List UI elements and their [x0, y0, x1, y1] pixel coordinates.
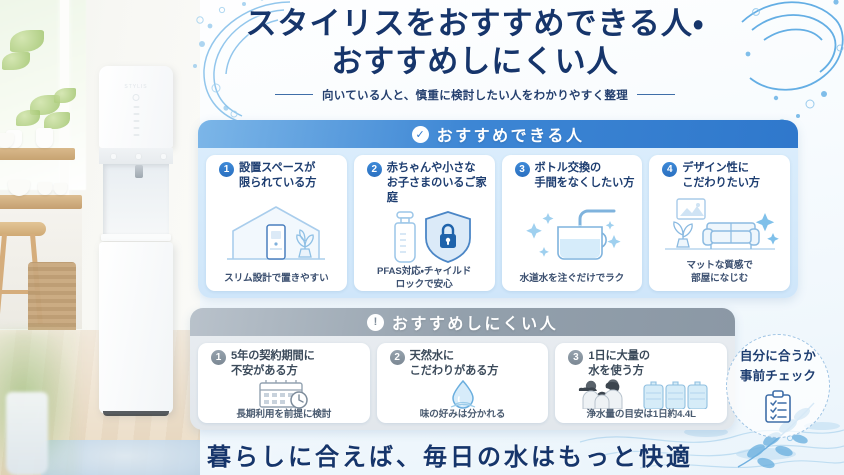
card-title-line-2: 限られている方 — [239, 177, 316, 189]
infographic-canvas: STYLIS — [0, 0, 844, 475]
card-title: 1日に大量の 水を使う方 — [588, 349, 650, 379]
card-title-line-2: こだわりたい方 — [682, 177, 760, 189]
caption-line-1: マットな質感で — [686, 260, 752, 271]
card-title-line-2: 水を使う方 — [588, 365, 643, 377]
card-art-column — [202, 379, 366, 409]
card-number: 2 — [390, 350, 405, 365]
not-recommended-card-list: 1 5年の契約期間に 不安がある方 — [190, 336, 735, 430]
title-line-2: おすすめしにくい人 — [195, 43, 755, 81]
kitchen-photo: STYLIS — [0, 0, 200, 475]
card-recommended-1[interactable]: 1 設置スペースが 限られている方 — [206, 155, 347, 291]
section-recommended-header: ✓ おすすめできる人 — [198, 120, 798, 148]
caption-line-2: ロックで安心 — [396, 279, 453, 290]
card-header: 1 5年の契約期間に 不安がある方 — [202, 349, 366, 379]
card-caption: マットな質感で 部屋になじむ — [686, 260, 752, 286]
dispense-button — [136, 154, 141, 159]
card-art-column — [381, 379, 545, 409]
card-title: デザイン性に こだわりたい方 — [682, 161, 760, 191]
water-drop-icon — [439, 379, 487, 409]
indicator-dot — [133, 120, 139, 122]
card-number: 4 — [662, 162, 677, 177]
card-body — [202, 379, 366, 409]
pre-check-line-1: 自分に合うか — [740, 348, 816, 366]
dispenser-base — [103, 411, 169, 416]
caption-line-2: 部屋になじむ — [691, 273, 748, 284]
card-header: 4 デザイン性に こだわりたい方 — [653, 161, 786, 191]
subtitle-row: 向いている人と、慎重に検討したい人をわかりやすく整理 — [195, 87, 755, 103]
card-number: 2 — [367, 162, 382, 177]
clipboard-checklist-icon — [763, 390, 793, 424]
card-title-line-1: 5年の契約期間に — [231, 350, 315, 362]
dispenser-body — [99, 242, 173, 414]
exclamation-icon: ! — [367, 314, 384, 331]
card-artwork — [506, 191, 639, 273]
card-number: 3 — [568, 350, 583, 365]
card-not-recommended-2[interactable]: 2 天然水に こだわりがある方 — [377, 343, 549, 423]
card-title-line-1: 天然水に — [410, 350, 454, 362]
card-number: 1 — [211, 350, 226, 365]
family-water-bottles-icon — [573, 379, 709, 409]
check-icon: ✓ — [412, 126, 429, 143]
indicator-dot — [133, 106, 139, 108]
card-title: 天然水に こだわりがある方 — [410, 349, 499, 379]
card-header: 3 ボトル交換の 手間をなくしたい方 — [506, 161, 639, 191]
faucet-pitcher-icon — [514, 201, 630, 263]
baby-bottle-shield-lock-icon — [366, 206, 482, 266]
section-not-recommended-title: おすすめしにくい人 — [392, 310, 558, 334]
indicator-dot — [133, 134, 139, 136]
section-not-recommended-header: ! おすすめしにくい人 — [190, 308, 735, 336]
card-caption: 浄水量の目安は1日約4.4L — [586, 409, 695, 422]
power-button-icon — [133, 94, 140, 101]
card-title-line-2: お子さまのいるご家庭 — [387, 177, 487, 204]
card-not-recommended-3[interactable]: 3 1日に大量の 水を使う方 — [555, 343, 727, 423]
dispenser-head: STYLIS — [99, 66, 173, 148]
card-caption: 長期利用を前提に検討 — [236, 409, 331, 422]
card-body — [559, 379, 723, 409]
dispense-button — [111, 154, 116, 159]
dispenser-control-panel — [132, 94, 141, 136]
card-title-line-2: こだわりがある方 — [410, 365, 499, 377]
rule-left — [275, 94, 313, 96]
card-number: 3 — [515, 162, 530, 177]
card-title: 設置スペースが 限られている方 — [239, 161, 316, 191]
card-header: 2 赤ちゃんや小さな お子さまのいるご家庭 — [358, 161, 491, 206]
card-caption: 水道水を注ぐだけでラク — [520, 273, 624, 286]
card-artwork — [210, 191, 343, 273]
card-title-line-1: デザイン性に — [682, 162, 749, 174]
card-title: ボトル交換の 手間をなくしたい方 — [535, 161, 635, 191]
pre-check-line-2: 事前チェック — [740, 368, 816, 386]
card-title-line-1: ボトル交換の — [535, 162, 602, 174]
house-slim-dispenser-icon — [217, 201, 335, 263]
card-number: 1 — [219, 162, 234, 177]
section-not-recommended: ! おすすめしにくい人 1 5年の契約期間に 不安がある方 — [190, 308, 735, 430]
wooden-shelf — [0, 148, 75, 160]
subtitle-text: 向いている人と、慎重に検討したい人をわかりやすく整理 — [322, 87, 628, 103]
card-title-line-1: 赤ちゃんや小さな — [387, 162, 476, 174]
card-title: 5年の契約期間に 不安がある方 — [231, 349, 315, 379]
dispense-button — [161, 154, 166, 159]
card-body — [381, 379, 545, 409]
card-caption: 味の好みは分かれる — [420, 409, 505, 422]
card-title-line-2: 手間をなくしたい方 — [535, 177, 635, 189]
water-dispenser: STYLIS — [93, 66, 185, 421]
card-art-column — [559, 379, 723, 409]
card-title: 赤ちゃんや小さな お子さまのいるご家庭 — [387, 161, 491, 206]
section-recommended-title: おすすめできる人 — [437, 122, 585, 146]
card-recommended-4[interactable]: 4 デザイン性に こだわりたい方 — [649, 155, 790, 291]
drip-tray — [101, 234, 171, 241]
dispenser-tap — [135, 165, 143, 178]
card-not-recommended-1[interactable]: 1 5年の契約期間に 不安がある方 — [198, 343, 370, 423]
indicator-dot — [133, 127, 139, 129]
section-recommended: ✓ おすすめできる人 1 設置スペースが 限られている方 — [198, 120, 798, 298]
card-title-line-2: 不安がある方 — [231, 365, 298, 377]
wooden-counter — [0, 195, 82, 209]
card-header: 3 1日に大量の 水を使う方 — [559, 349, 723, 379]
dispenser-logo: STYLIS — [99, 84, 173, 90]
plant-pot — [36, 128, 53, 148]
calendar-clock-icon — [252, 379, 316, 409]
card-recommended-3[interactable]: 3 ボトル交換の 手間をなくしたい方 — [502, 155, 643, 291]
card-recommended-2[interactable]: 2 赤ちゃんや小さな お子さまのいるご家庭 — [354, 155, 495, 291]
pre-check-badge[interactable]: 自分に合うか 事前チェック — [726, 334, 830, 438]
foreground-vase — [6, 392, 48, 475]
sofa-interior-icon — [659, 195, 781, 255]
bottom-tagline: 暮らしに合えば、毎日の水はもっと快適に。 — [190, 437, 710, 475]
card-caption: スリム設計で置きやすい — [224, 273, 328, 286]
card-artwork — [358, 206, 491, 266]
card-header: 2 天然水に こだわりがある方 — [381, 349, 545, 379]
indicator-dot — [133, 113, 139, 115]
card-artwork — [653, 191, 786, 260]
page-title: スタイリスをおすすめできる人・ おすすめしにくい人 向いている人と、慎重に検討し… — [195, 5, 755, 103]
card-header: 1 設置スペースが 限られている方 — [210, 161, 343, 191]
card-title-line-1: 1日に大量の — [588, 350, 650, 362]
recommended-card-list: 1 設置スペースが 限られている方 — [198, 148, 798, 298]
title-line-1: スタイリスをおすすめできる人・ — [195, 5, 755, 43]
rule-right — [637, 94, 675, 96]
card-caption: PFAS対応・チャイルド ロックで安心 — [377, 266, 471, 292]
card-title-line-1: 設置スペースが — [239, 162, 315, 174]
caption-line-1: PFAS対応・チャイルド — [377, 266, 471, 277]
